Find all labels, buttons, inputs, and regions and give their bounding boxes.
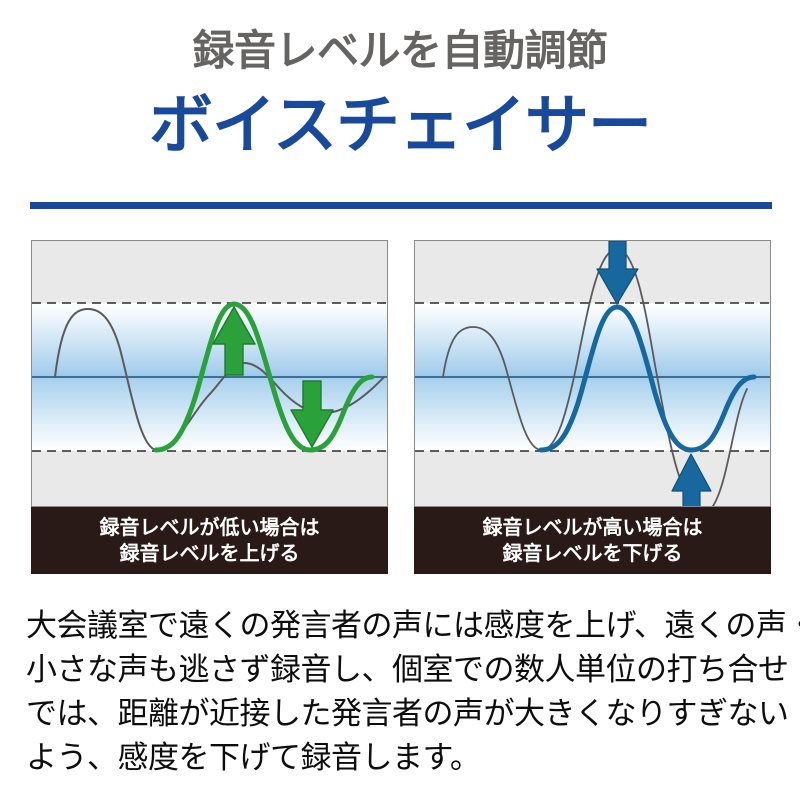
body-line-3: では、距離が近接した発言者の声が大きくなりすぎない xyxy=(26,692,778,736)
caption-high-level: 録音レベルが高い場合は 録音レベルを下げる xyxy=(414,507,771,574)
header-divider xyxy=(30,202,772,209)
caption-low-level: 録音レベルが低い場合は 録音レベルを上げる xyxy=(31,507,388,574)
caption-low-line-1: 録音レベルが低い場合は xyxy=(100,515,320,541)
poster-root: 録音レベルを自動調節 ボイスチェイサー xyxy=(0,0,800,800)
caption-high-line-1: 録音レベルが高い場合は xyxy=(483,515,703,541)
panel-low-level: 録音レベルが低い場合は 録音レベルを上げる xyxy=(31,240,388,574)
body-line-4: よう、感度を下げて録音します。 xyxy=(26,736,778,780)
waveform-chart-low-level xyxy=(31,240,388,507)
waveform-chart-high-level xyxy=(414,240,771,507)
caption-high-line-2: 録音レベルを下げる xyxy=(503,541,683,567)
body-line-2: 小さな声も逃さず録音し、個室での数人単位の打ち合せ xyxy=(26,648,778,692)
body-paragraph: 大会議室で遠くの発言者の声には感度を上げ、遠くの声・ 小さな声も逃さず録音し、個… xyxy=(26,604,778,780)
page-title: ボイスチェイサー xyxy=(0,88,800,162)
page-subtitle: 録音レベルを自動調節 xyxy=(0,26,800,76)
body-line-1: 大会議室で遠くの発言者の声には感度を上げ、遠くの声・ xyxy=(26,604,778,648)
caption-low-line-2: 録音レベルを上げる xyxy=(120,541,300,567)
panel-high-level: 録音レベルが高い場合は 録音レベルを下げる xyxy=(414,240,771,574)
